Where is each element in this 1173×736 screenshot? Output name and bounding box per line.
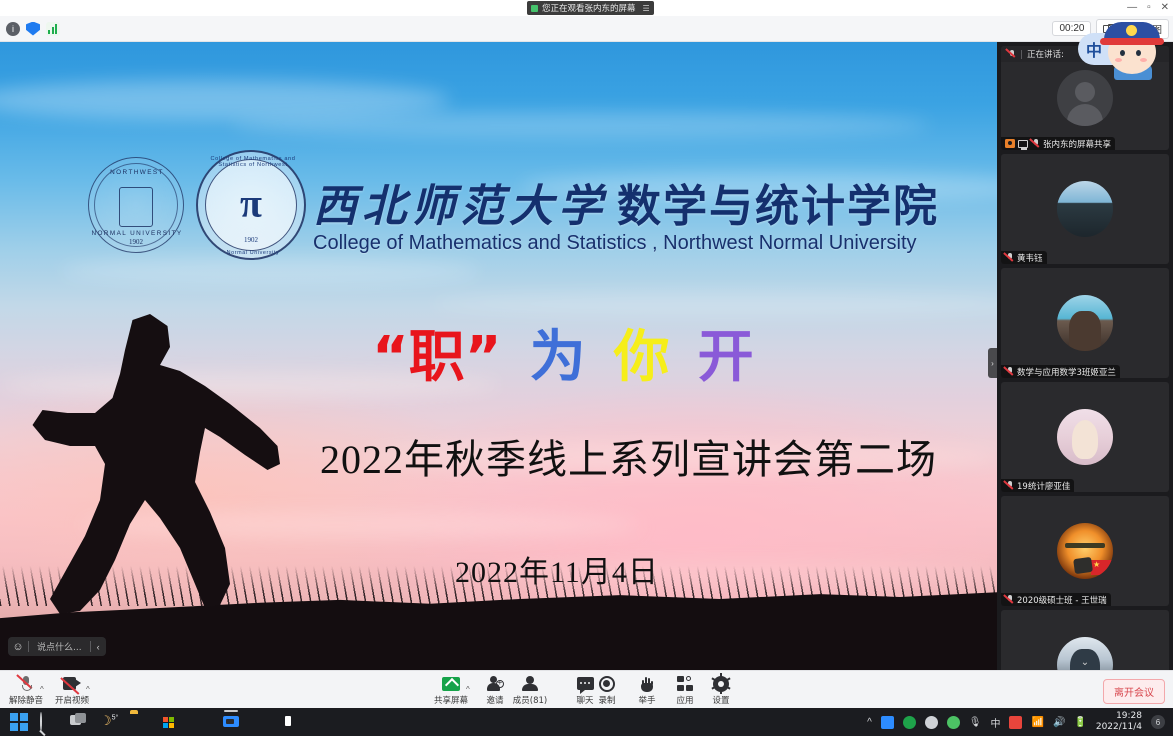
weather-icon[interactable]: ☽5°: [100, 713, 118, 731]
participant-tile[interactable]: 19统计廖亚佳: [1001, 382, 1169, 492]
cloud-icon[interactable]: [925, 716, 938, 729]
divider: [1021, 50, 1022, 59]
close-button[interactable]: ✕: [1161, 2, 1169, 13]
system-tray: ^ 🎙 中 📶 🔊 🔋 19:28 2022/11/4 6: [867, 711, 1173, 733]
firefox-icon[interactable]: [190, 713, 208, 731]
mascot-blush: [1140, 58, 1147, 62]
university-name-cn: 西北师范大学: [313, 182, 607, 231]
ime-cn-icon[interactable]: 中: [990, 715, 1000, 730]
mic-muted-icon: [1005, 481, 1014, 491]
share-banner-text: 您正在观看张内东的屏幕: [542, 2, 636, 14]
seal-emblem-mark: [119, 187, 153, 227]
participant-tile[interactable]: 数学与应用数学3班姬亚兰: [1001, 268, 1169, 378]
microsoft-store-icon[interactable]: [160, 713, 178, 731]
mic-muted-icon: [1005, 253, 1014, 263]
file-explorer-icon[interactable]: [130, 713, 148, 731]
reaction-chat-bar[interactable]: ☺ 说点什么... ‹: [8, 637, 106, 656]
invite-person-icon: [487, 674, 504, 693]
signal-bars-icon[interactable]: [46, 22, 60, 36]
slogan-char-2: 为: [530, 312, 586, 393]
volume-icon[interactable]: 🔊: [1053, 717, 1065, 728]
participant-name: 2020级硕士班 - 王世瑞: [1017, 594, 1107, 606]
participant-tile[interactable]: 2020级硕士班 - 王世瑞: [1001, 496, 1169, 606]
taskbar-clock[interactable]: 19:28 2022/11/4: [1096, 711, 1142, 733]
slogan-char-1: “职”: [372, 312, 502, 393]
avatar: [1057, 409, 1113, 465]
zoom-meeting-window: 您正在观看张内东的屏幕 ☰ i 00:20 演讲者视图 — ▫ ✕: [0, 0, 1173, 736]
screen-share-icon: [1018, 140, 1028, 148]
mic-muted-icon: [1005, 595, 1014, 605]
windows-start-icon[interactable]: [10, 713, 28, 731]
video-options-caret-icon[interactable]: ^: [86, 685, 90, 694]
apps-label: 应用: [676, 694, 693, 706]
apps-icon: [677, 674, 693, 693]
start-video-button[interactable]: 开启视频: [46, 674, 98, 706]
blue-app-icon[interactable]: [280, 713, 298, 731]
unmute-label: 解除静音: [9, 694, 43, 706]
share-screen-label: 共享屏幕: [434, 694, 468, 706]
battery-icon[interactable]: 🔋: [1074, 717, 1086, 728]
avatar: [1057, 523, 1113, 579]
seal-arc-top-text: NORTHWEST: [89, 169, 185, 176]
meeting-toolbar: 解除静音 ^ 开启视频 ^ 共享屏幕 ^ 邀请 成员(81): [0, 670, 1173, 708]
mic-muted-icon: [1031, 139, 1040, 149]
slide-date: 2022年11月4日: [455, 547, 659, 591]
slide-university-heading: 西北师范大学数学与统计学院: [313, 170, 939, 234]
share-screen-icon: [442, 674, 460, 693]
raise-hand-label: 举手: [638, 694, 655, 706]
avatar: [1057, 70, 1113, 126]
mascot-eye: [1136, 50, 1141, 56]
college-name-cn: 数学与统计学院: [617, 181, 939, 232]
camera-off-icon: [63, 674, 81, 693]
notification-badge[interactable]: 6: [1151, 715, 1165, 729]
mic-muted-icon: [19, 674, 33, 693]
security-shield-icon[interactable]: [250, 713, 268, 731]
show-hidden-icons-icon[interactable]: ^: [867, 717, 872, 728]
share-active-indicator-icon: [531, 5, 538, 12]
participants-label: 成员(81): [513, 694, 547, 706]
zoom-tray-icon[interactable]: [881, 716, 894, 729]
minimize-button[interactable]: —: [1127, 2, 1137, 13]
participants-panel: 正在讲话: 张内东的屏幕共享 黄韦钰 数学与应用数学3班姬亚兰: [997, 42, 1173, 670]
start-video-label: 开启视频: [55, 694, 89, 706]
meeting-timer: 00:20: [1052, 21, 1091, 36]
info-icon[interactable]: i: [6, 22, 20, 36]
play-store-icon[interactable]: [903, 716, 916, 729]
participant-tile[interactable]: 黄韦钰: [1001, 154, 1169, 264]
participant-name: 黄韦钰: [1017, 252, 1043, 264]
record-label: 录制: [598, 694, 615, 706]
participant-name: 张内东的屏幕共享: [1043, 138, 1111, 150]
host-icon: [1005, 139, 1015, 148]
avatar: [1057, 295, 1113, 351]
mascot-blush: [1115, 58, 1122, 62]
settings-button[interactable]: 设置: [695, 674, 747, 706]
college-seal-logo: College of Mathematics and Statistics of…: [196, 150, 306, 260]
green-dot-icon[interactable]: [947, 716, 960, 729]
seal-year: 1902: [129, 238, 143, 246]
cloud-wisp: [230, 112, 930, 138]
zoom-icon[interactable]: [220, 713, 238, 731]
raise-hand-icon: [640, 674, 654, 693]
meeting-top-bar: i 00:20 演讲者视图: [0, 16, 1173, 42]
shared-screen-stage[interactable]: NORTHWEST NORMAL UNIVERSITY 1902 College…: [0, 42, 997, 670]
audio-options-caret-icon[interactable]: ^: [40, 685, 44, 694]
college-seal-year: 1902: [244, 236, 258, 244]
invite-label: 邀请: [486, 694, 503, 706]
mic-tray-icon[interactable]: 🎙: [969, 717, 982, 728]
quick-chat-input[interactable]: 说点什么...: [29, 640, 90, 653]
settings-gear-icon: [713, 674, 729, 693]
slide-slogan: “职” 为 你 开: [372, 312, 782, 393]
unmute-button[interactable]: 解除静音: [0, 674, 52, 706]
more-options-icon[interactable]: ☰: [643, 4, 650, 13]
task-view-icon[interactable]: [70, 713, 88, 731]
wifi-icon[interactable]: 📶: [1031, 717, 1043, 728]
top-bar-status-icons: i: [0, 22, 60, 36]
presentation-slide: NORTHWEST NORMAL UNIVERSITY 1902 College…: [0, 42, 997, 670]
shield-icon[interactable]: [26, 22, 40, 36]
participants-button[interactable]: 成员(81): [504, 674, 556, 706]
windows-taskbar: ☽5° ^ 🎙 中 📶 🔊 🔋 19:28 2022/11/4 6: [0, 708, 1173, 736]
college-seal-arc-bottom: Normal University: [198, 250, 308, 256]
slogan-char-4: 开: [698, 312, 754, 393]
clock-date: 2022/11/4: [1096, 722, 1142, 732]
mic-muted-icon: [1005, 367, 1014, 377]
participant-label: 19统计廖亚佳: [1001, 479, 1074, 492]
window-controls: — ▫ ✕: [1127, 2, 1169, 13]
flag-icon: [1091, 560, 1113, 575]
emoji-icon[interactable]: ☺: [8, 641, 28, 653]
mascot-badge: [1126, 25, 1137, 36]
participants-icon: [521, 674, 539, 693]
participant-name: 19统计廖亚佳: [1017, 480, 1070, 492]
participant-label: 2020级硕士班 - 王世瑞: [1001, 593, 1111, 606]
panel-collapse-handle[interactable]: ›: [988, 348, 997, 378]
weather-temp: 5°: [112, 715, 119, 722]
collapse-chevron-icon[interactable]: ‹: [91, 642, 106, 652]
avatar: [1057, 181, 1113, 237]
sogou-icon[interactable]: [1009, 716, 1022, 729]
seal-arc-bottom-text: NORMAL UNIVERSITY: [89, 230, 185, 237]
scroll-down-chevron-icon[interactable]: ⌄: [997, 657, 1173, 668]
cloud-wisp: [60, 257, 480, 285]
clock-time: 19:28: [1116, 711, 1142, 721]
pi-glyph-icon: π: [240, 179, 262, 226]
speaking-status-label: 正在讲话:: [1027, 48, 1064, 60]
mascot-eye: [1120, 50, 1125, 56]
mic-muted-icon: [1007, 49, 1016, 59]
leave-meeting-button[interactable]: 离开会议: [1103, 679, 1165, 704]
participant-label: 黄韦钰: [1001, 251, 1047, 264]
slide-english-subheading: College of Mathematics and Statistics , …: [313, 232, 917, 255]
participant-label: 数学与应用数学3班姬亚兰: [1001, 365, 1120, 378]
taskbar-app-list: ☽5°: [0, 713, 298, 731]
maximize-button[interactable]: ▫: [1147, 2, 1151, 13]
slogan-char-3: 你: [614, 312, 670, 393]
participant-name: 数学与应用数学3班姬亚兰: [1017, 366, 1116, 378]
settings-label: 设置: [712, 694, 729, 706]
screen-share-banner[interactable]: 您正在观看张内东的屏幕 ☰: [527, 1, 654, 15]
participant-label: 张内东的屏幕共享: [1001, 137, 1115, 150]
search-icon[interactable]: [40, 713, 58, 731]
record-icon: [599, 674, 615, 693]
slide-subtitle: 2022年秋季线上系列宣讲会第二场: [320, 427, 937, 485]
university-seal-logo: NORTHWEST NORMAL UNIVERSITY 1902: [88, 157, 184, 253]
college-seal-arc-top: College of Mathematics and Statistics of…: [198, 156, 308, 168]
anime-mascot-overlay-icon: [1102, 20, 1164, 78]
